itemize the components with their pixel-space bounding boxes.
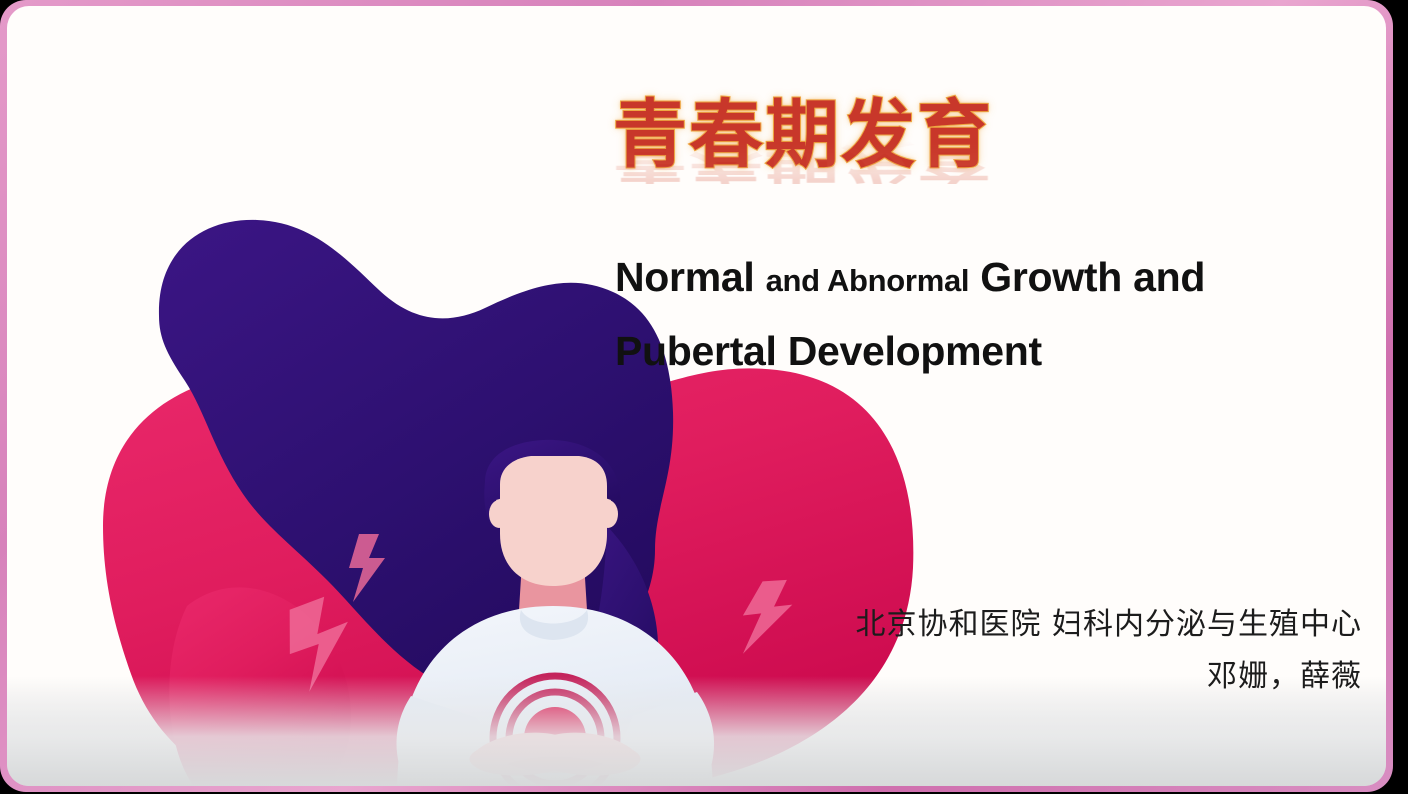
presentation-slide: 青春期发育 青春期发育 Normal and Abnormal Growth a… (7, 6, 1386, 786)
affiliation-text: 北京协和医院 妇科内分泌与生殖中心 (855, 610, 1362, 640)
page-title-chinese: 青春期发育 (613, 98, 1083, 172)
face-shape (500, 456, 607, 586)
subtitle-part-growth-and: Growth and (969, 254, 1205, 300)
subtitle-english-line2: Pubertal Development (615, 314, 1042, 388)
subtitle-english-line1: Normal and Abnormal Growth and (615, 240, 1315, 318)
authors-text: 邓姗，薛薇 (1207, 662, 1362, 692)
video-letterbox-stage: 青春期发育 青春期发育 Normal and Abnormal Growth a… (0, 0, 1408, 794)
slide-frame-border: 青春期发育 青春期发育 Normal and Abnormal Growth a… (0, 0, 1393, 792)
subtitle-part-normal: Normal (615, 254, 766, 300)
title-block: 青春期发育 青春期发育 (613, 98, 1083, 248)
subtitle-part-and-abnormal: and Abnormal (766, 263, 970, 298)
